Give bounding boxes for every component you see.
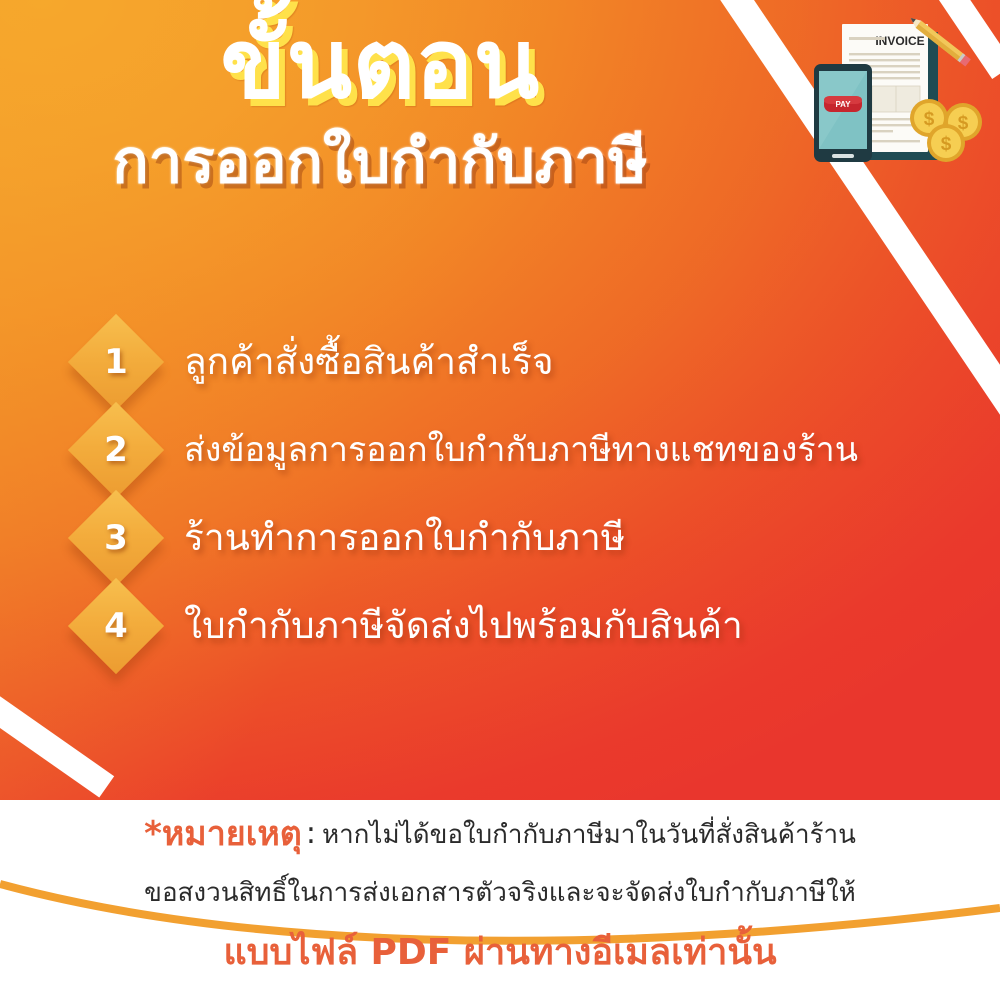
step-number: 3 bbox=[82, 504, 150, 572]
step-item-4: 4 ใบกำกับภาษีจัดส่งไปพร้อมกับสินค้า bbox=[0, 582, 1000, 670]
infographic-poster: ขั้นตอน การออกใบกำกับภาษี INVOICE bbox=[0, 0, 1000, 1000]
step-number: 1 bbox=[82, 328, 150, 396]
note-label: *หมายเหตุ bbox=[144, 814, 302, 854]
step-label: ลูกค้าสั่งซื้อสินค้าสำเร็จ bbox=[168, 339, 554, 385]
page-subtitle: การออกใบกำกับภาษี bbox=[0, 129, 760, 195]
svg-text:$: $ bbox=[924, 109, 935, 130]
step-item-3: 3 ร้านทำการออกใบกำกับภาษี bbox=[0, 494, 1000, 582]
svg-text:$: $ bbox=[941, 134, 952, 155]
step-badge-1: 1 bbox=[72, 318, 168, 406]
step-number: 4 bbox=[82, 592, 150, 660]
invoice-heading-text: INVOICE bbox=[875, 34, 924, 48]
note-text-1: หากไม่ได้ขอใบกำกับภาษีมาในวันที่สั่งสินค… bbox=[322, 820, 856, 850]
step-badge-3: 3 bbox=[72, 494, 168, 582]
step-badge-2: 2 bbox=[72, 406, 168, 494]
steps-list: 1 ลูกค้าสั่งซื้อสินค้าสำเร็จ 2 ส่งข้อมูล… bbox=[0, 318, 1000, 670]
step-item-2: 2 ส่งข้อมูลการออกใบกำกับภาษีทางแชทของร้า… bbox=[0, 406, 1000, 494]
invoice-payment-illustration: INVOICE bbox=[800, 12, 992, 190]
footer-note: *หมายเหตุ:หากไม่ได้ขอใบกำกับภาษีมาในวันท… bbox=[0, 812, 1000, 978]
note-emphasis: แบบไฟล์ PDF ผ่านทางอีเมลเท่านั้น bbox=[223, 932, 776, 973]
note-line-2: ขอสงวนสิทธิ์ในการส่งเอกสารตัวจริงและจะจั… bbox=[0, 876, 1000, 911]
step-label: ร้านทำการออกใบกำกับภาษี bbox=[168, 515, 625, 561]
step-item-1: 1 ลูกค้าสั่งซื้อสินค้าสำเร็จ bbox=[0, 318, 1000, 406]
pay-button-label: PAY bbox=[835, 100, 851, 109]
step-label: ใบกำกับภาษีจัดส่งไปพร้อมกับสินค้า bbox=[168, 603, 743, 649]
pay-button: PAY bbox=[824, 96, 862, 112]
page-title: ขั้นตอน bbox=[0, 14, 760, 115]
smartphone-icon: PAY bbox=[814, 64, 872, 162]
step-number: 2 bbox=[82, 416, 150, 484]
coin-front: $ bbox=[927, 124, 965, 162]
note-line-1: *หมายเหตุ:หากไม่ได้ขอใบกำกับภาษีมาในวันท… bbox=[0, 812, 1000, 858]
note-colon: : bbox=[302, 816, 322, 851]
step-badge-4: 4 bbox=[72, 582, 168, 670]
poster-header: ขั้นตอน การออกใบกำกับภาษี bbox=[0, 14, 760, 195]
step-label: ส่งข้อมูลการออกใบกำกับภาษีทางแชทของร้าน bbox=[168, 429, 858, 472]
note-line-3: แบบไฟล์ PDF ผ่านทางอีเมลเท่านั้น bbox=[0, 929, 1000, 978]
